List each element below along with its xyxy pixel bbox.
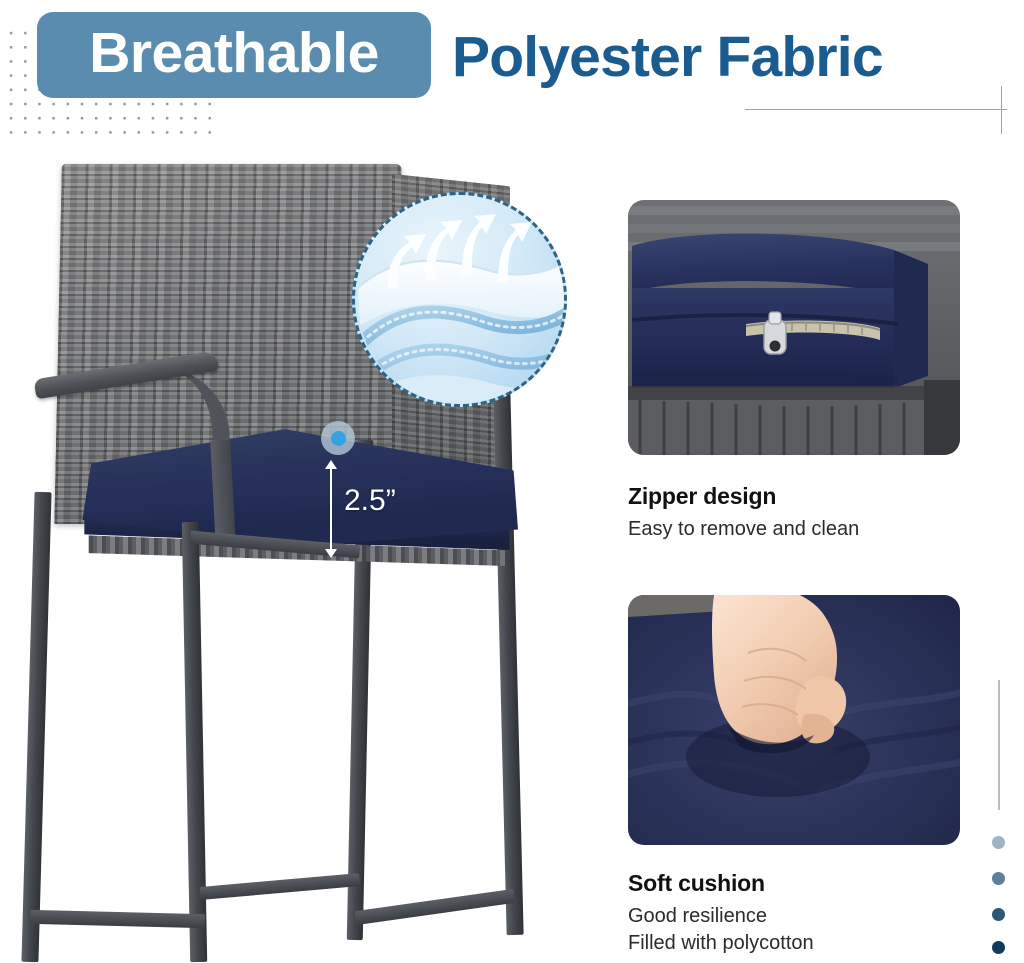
panel-line-cushion-2: Filled with polycotton	[628, 932, 814, 955]
edge-dot-4	[992, 941, 1005, 954]
page-title: Polyester Fabric	[452, 14, 883, 100]
panel-line-zipper-1: Easy to remove and clean	[628, 518, 859, 541]
breathable-badge: Breathable	[37, 12, 431, 98]
header-rule-horizontal	[745, 109, 1007, 110]
chair-rail-left	[30, 910, 205, 928]
chair-leg-front-left	[21, 492, 51, 962]
breathable-airflow-illustration	[352, 192, 567, 407]
chair-rail-middle	[200, 873, 361, 900]
edge-dot-3	[992, 908, 1005, 921]
header-rule-vertical	[1001, 86, 1002, 134]
edge-dot-1	[992, 836, 1005, 849]
edge-decoration-line	[998, 680, 1000, 810]
zipper-closeup-photo	[628, 200, 960, 455]
panel-title-soft-cushion: Soft cushion	[628, 870, 765, 897]
chair-product-illustration: 2.5”	[0, 140, 610, 963]
panel-line-cushion-1: Good resilience	[628, 905, 767, 928]
chair-rail-right	[355, 889, 515, 925]
breathable-badge-label: Breathable	[89, 25, 379, 86]
breathable-dot-icon	[321, 421, 355, 455]
header-banner: Breathable Polyester Fabric	[0, 0, 1024, 140]
dimension-label: 2.5”	[344, 484, 396, 518]
cushion-thickness-annotation: 2.5”	[330, 462, 470, 572]
hand-pressing-cushion-photo	[628, 595, 960, 845]
dimension-arrow-icon	[330, 468, 332, 550]
edge-dot-2	[992, 872, 1005, 885]
panel-title-zipper: Zipper design	[628, 483, 776, 510]
